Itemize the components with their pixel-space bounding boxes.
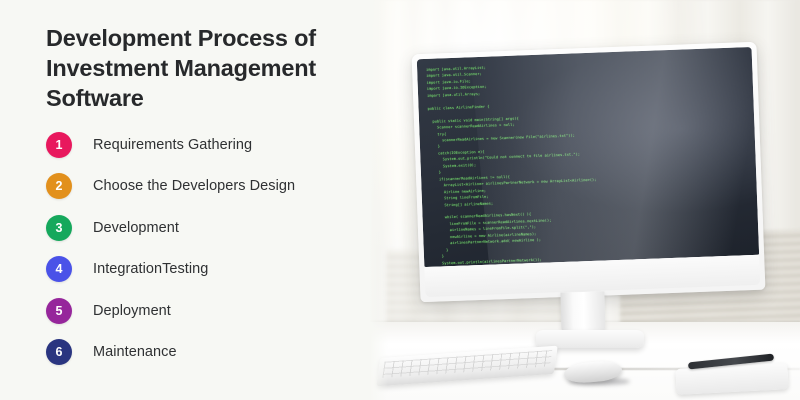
step-label-3: Development: [93, 220, 179, 236]
step-number-2: 2: [56, 179, 63, 193]
step-number-3: 3: [56, 221, 63, 235]
step-number-badge-4: 4: [46, 256, 72, 282]
page-title-line-3: Software: [46, 85, 144, 111]
step-number-badge-6: 6: [46, 339, 72, 365]
step-label-1: Requirements Gathering: [93, 137, 252, 153]
list-item: 3 Development: [46, 207, 366, 249]
step-number-badge-5: 5: [46, 298, 72, 324]
list-item: 2 Choose the Developers Design: [46, 166, 366, 208]
step-label-2: Choose the Developers Design: [93, 178, 295, 194]
list-item: 1 Requirements Gathering: [46, 124, 366, 166]
list-item: 4 IntegrationTesting: [46, 249, 366, 291]
process-steps-list: 1 Requirements Gathering 2 Choose the De…: [46, 124, 366, 373]
workstation-photo: import java.util.ArrayList; import java.…: [368, 0, 800, 400]
page-title-line-1: Development Process of: [46, 25, 316, 51]
step-label-4: IntegrationTesting: [93, 261, 208, 277]
desktop-monitor: import java.util.ArrayList; import java.…: [412, 42, 766, 302]
step-number-1: 1: [56, 138, 63, 152]
monitor-screen: import java.util.ArrayList; import java.…: [417, 47, 759, 267]
infographic-slide: Development Process of Investment Manage…: [0, 0, 800, 400]
step-number-5: 5: [56, 304, 63, 318]
step-label-5: Deployment: [93, 303, 171, 319]
list-item: 5 Deployment: [46, 290, 366, 332]
step-number-6: 6: [56, 345, 63, 359]
page-title-line-2: Investment Management: [46, 55, 316, 81]
step-number-badge-2: 2: [46, 173, 72, 199]
screen-code-text: import java.util.ArrayList; import java.…: [426, 55, 755, 267]
step-number-4: 4: [56, 262, 63, 276]
step-number-badge-3: 3: [46, 215, 72, 241]
step-number-badge-1: 1: [46, 132, 72, 158]
list-item: 6 Maintenance: [46, 332, 366, 374]
left-content-panel: Development Process of Investment Manage…: [0, 0, 372, 400]
step-label-6: Maintenance: [93, 344, 177, 360]
page-title: Development Process of Investment Manage…: [46, 24, 366, 114]
